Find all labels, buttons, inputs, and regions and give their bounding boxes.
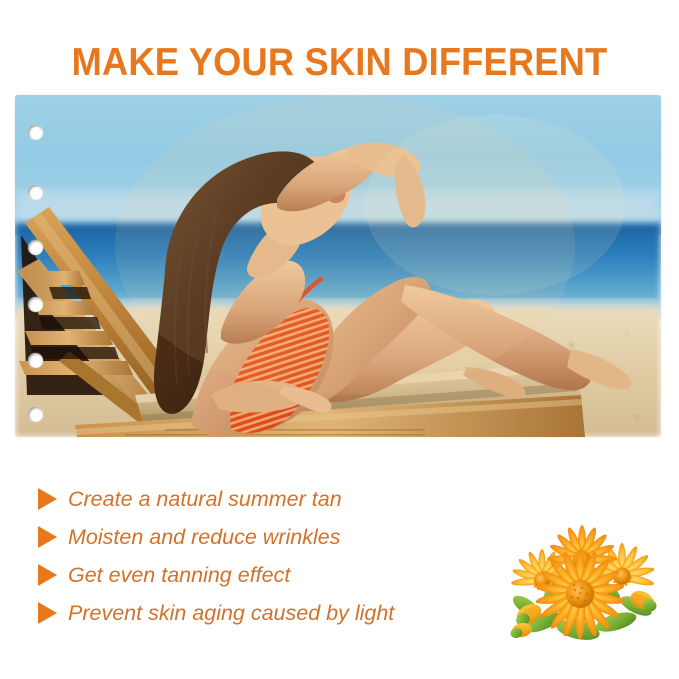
triangle-bullet-icon bbox=[38, 602, 57, 624]
triangle-bullet-icon bbox=[38, 564, 57, 586]
benefits-list: Create a natural summer tan Moisten and … bbox=[38, 480, 508, 632]
hero-photo bbox=[15, 95, 661, 437]
page-title: MAKE YOUR SKIN DIFFERENT bbox=[24, 41, 655, 85]
punch-hole bbox=[28, 240, 43, 255]
calendula-flowers-image bbox=[496, 518, 668, 644]
punch-hole bbox=[28, 125, 43, 140]
beach-scene-illustration bbox=[15, 95, 661, 437]
punch-hole bbox=[28, 185, 43, 200]
triangle-bullet-icon bbox=[38, 526, 57, 548]
list-item: Get even tanning effect bbox=[38, 556, 508, 594]
list-item-label: Get even tanning effect bbox=[68, 563, 290, 587]
punch-hole bbox=[28, 297, 43, 312]
punch-hole bbox=[28, 353, 43, 368]
list-item-label: Moisten and reduce wrinkles bbox=[68, 525, 340, 549]
list-item: Prevent skin aging caused by light bbox=[38, 594, 508, 632]
list-item: Create a natural summer tan bbox=[38, 480, 508, 518]
list-item-label: Create a natural summer tan bbox=[68, 487, 342, 511]
calendula-flower-illustration bbox=[496, 518, 668, 644]
triangle-bullet-icon bbox=[38, 488, 57, 510]
poster-canvas: MAKE YOUR SKIN DIFFERENT bbox=[0, 0, 679, 679]
punch-hole bbox=[28, 407, 43, 422]
list-item: Moisten and reduce wrinkles bbox=[38, 518, 508, 556]
list-item-label: Prevent skin aging caused by light bbox=[68, 601, 394, 625]
